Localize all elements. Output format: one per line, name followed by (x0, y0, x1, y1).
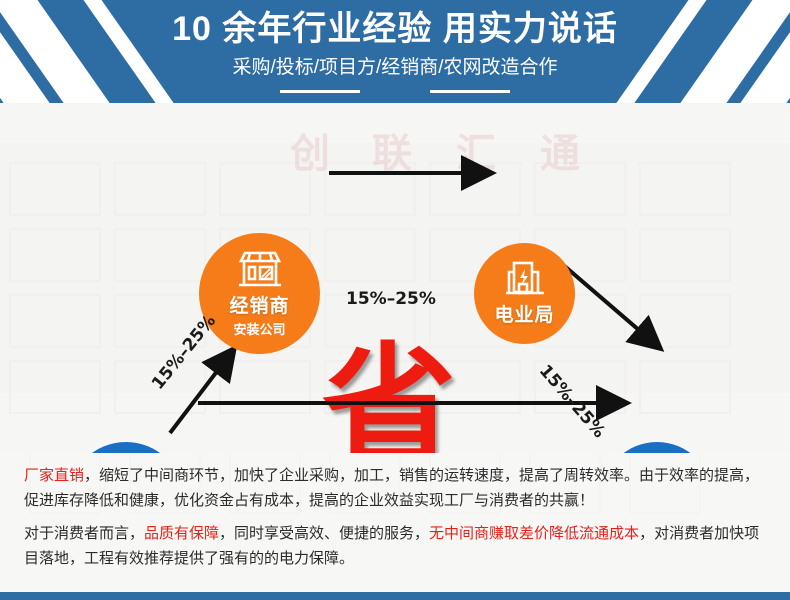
arrow-layer (0, 103, 790, 453)
header-text-group: 10 余年行业经验 用实力说话 采购/投标/项目方/经销商/农网改造合作 (0, 0, 790, 79)
footer-paragraph-2: 对于消费者而言，品质有保障，同时享受高效、便捷的服务，无中间商赚取差价降低流通成… (24, 521, 772, 571)
promo-banner-page: 10 余年行业经验 用实力说话 采购/投标/项目方/经销商/农网改造合作 (0, 0, 790, 600)
storefront-icon (237, 249, 283, 289)
node-dealer-sublabel: 安装公司 (233, 319, 285, 338)
header-subtitle: 采购/投标/项目方/经销商/农网改造合作 (0, 52, 790, 79)
node-dealer[interactable]: 经销商 安装公司 (199, 233, 320, 354)
footer-highlight-no-middleman: 无中间商赚取差价降低流通成本 (429, 525, 639, 542)
flow-diagram: 创 联 汇 通 省 15%–25% 15%–25% 15%–25% 在这里省了中 (0, 103, 790, 453)
node-bureau-label: 电业局 (494, 300, 554, 327)
footer-accent-bar (0, 592, 790, 600)
arrow-label-dealer-to-bureau: 15%–25% (346, 289, 436, 309)
footer-paragraph-2-mid: ，同时享受高效、便捷的服务， (219, 525, 429, 542)
footer-highlight-direct-sales: 厂家直销 (24, 467, 84, 484)
node-dealer-label: 经销商 (229, 291, 289, 318)
header-divider-gap (360, 87, 430, 96)
header-title: 10 余年行业经验 用实力说话 (0, 11, 790, 48)
node-bureau[interactable]: 电业局 (474, 243, 575, 344)
footer-highlight-quality: 品质有保障 (144, 525, 219, 542)
power-building-icon (504, 260, 546, 298)
footer-paragraph-1-rest: ，缩短了中间商环节，加快了企业采购，加工，销售的运转速度，提高了周转效率。由于效… (24, 467, 759, 509)
header-banner: 10 余年行业经验 用实力说话 采购/投标/项目方/经销商/农网改造合作 (0, 0, 790, 103)
footer-paragraph-2-lead: 对于消费者而言， (24, 525, 144, 542)
footer-paragraph-1: 厂家直销，缩短了中间商环节，加快了企业采购，加工，销售的运转速度，提高了周转效率… (24, 463, 772, 513)
